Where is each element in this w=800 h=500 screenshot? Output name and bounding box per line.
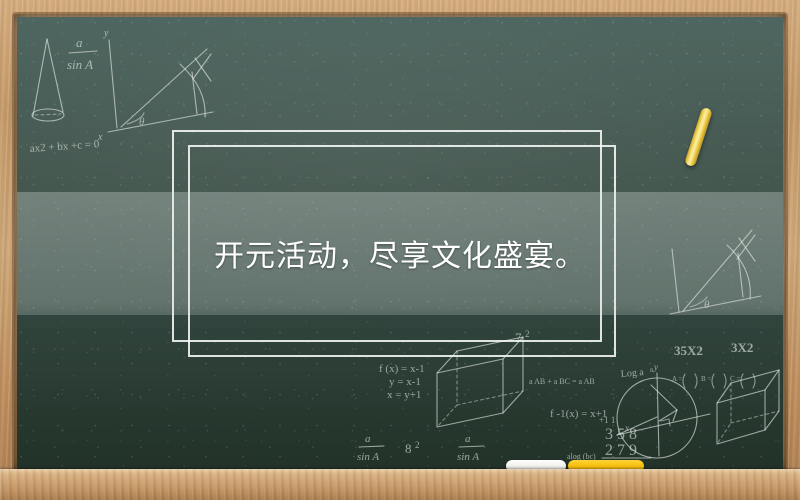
inverse-function: f -1(x) = x+1 [550,408,607,420]
svg-text:θ: θ [704,299,710,311]
eight-squared: 8 [405,441,412,456]
circle-axes-diagram: y x [617,362,710,458]
matrix-notation-row: A = B = C = [672,374,755,388]
cube-drawing-right [717,370,779,444]
svg-text:y: y [103,28,109,39]
log-expression: Log a [620,367,644,380]
blackboard-banner: a sin A y x θ [0,0,800,500]
fraction-a-over-sina-bottommid: a sin A [457,433,484,463]
cone-drawing [32,39,64,121]
svg-text:x = y+1: x = y+1 [387,389,421,401]
svg-text:y = x-1: y = x-1 [389,376,421,388]
svg-text:x: x [624,423,629,433]
matrix-dim-35x2: 35X2 [674,343,703,358]
svg-text:sin A: sin A [67,57,93,72]
svg-text:a: a [365,433,371,445]
svg-text:n: n [650,366,654,374]
svg-text:f (x) = x-1: f (x) = x-1 [379,363,425,375]
svg-text:x: x [97,132,103,143]
svg-text:3 5 8: 3 5 8 [605,426,637,443]
fraction-a-over-sina-topleft: a sin A [67,35,97,72]
svg-text:C =: C = [730,375,740,383]
fraction-a-over-sina-bottomleft: a sin A [357,433,384,463]
vector-identity: a AB + a BC = a AB [529,377,595,386]
quadratic-equation: ax2 + bx +c = 0 [29,138,100,155]
function-equations: f (x) = x-1 y = x-1 x = y+1 [379,363,425,401]
svg-text:θ: θ [139,116,145,128]
svg-text:2 7 9: 2 7 9 [605,442,637,459]
svg-text:a: a [76,35,83,50]
svg-text:A =: A = [672,375,682,383]
svg-text:a: a [465,433,471,445]
svg-text:B =: B = [701,375,711,383]
banner-headline: 开元活动，尽享文化盛宴。 [17,242,783,272]
chalk-tray [0,469,800,500]
svg-text:+1 1: +1 1 [599,415,615,425]
svg-text:y: y [653,362,658,372]
chalk-stick-icon [684,107,713,167]
angle-construction-topleft: y x θ [97,28,213,143]
svg-text:2: 2 [415,440,420,450]
matrix-dim-3x2: 3X2 [731,340,753,355]
chalkboard-surface: a sin A y x θ [17,17,783,469]
svg-text:sin A: sin A [457,451,479,463]
svg-text:sin A: sin A [357,451,379,463]
